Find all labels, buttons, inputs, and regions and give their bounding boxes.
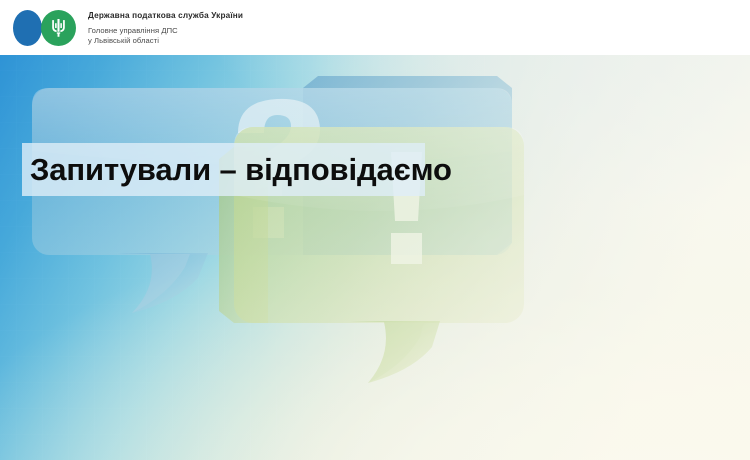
ukrainian-trident-icon bbox=[51, 18, 66, 38]
org-subtitle-line-1: Головне управління ДПС bbox=[88, 26, 178, 35]
banner-mosaic-texture bbox=[0, 55, 750, 460]
org-title: Державна податкова служба України bbox=[88, 10, 243, 21]
org-subtitle-line-2: у Львівській області bbox=[88, 36, 159, 45]
banner-page: Державна податкова служба України Головн… bbox=[0, 0, 750, 460]
logo-green-circle-icon bbox=[41, 10, 76, 46]
banner-title-band: Запитували – відповідаємо bbox=[22, 143, 425, 196]
logo-blue-circle-icon bbox=[13, 10, 42, 46]
site-header: Державна податкова служба України Головн… bbox=[0, 0, 750, 55]
header-org-text: Державна податкова служба України Головн… bbox=[88, 10, 243, 45]
org-subtitle: Головне управління ДПС у Львівській обла… bbox=[88, 26, 243, 45]
hero-banner: Запитували – відповідаємо bbox=[0, 55, 750, 460]
banner-title: Запитували – відповідаємо bbox=[22, 154, 452, 185]
tax-service-logo[interactable] bbox=[13, 10, 77, 46]
